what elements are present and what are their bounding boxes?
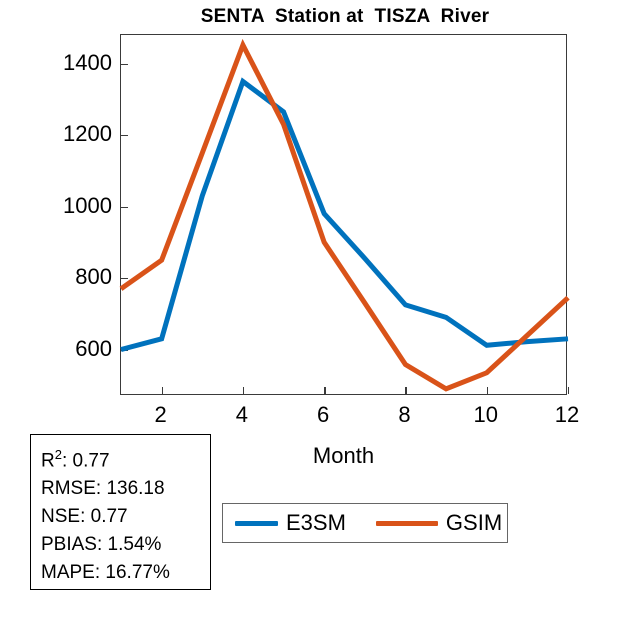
chart-title: SENTA Station at TISZA River — [120, 6, 570, 28]
legend-item-gsim[interactable]: GSIM — [376, 512, 502, 534]
y-tick-label-800: 800 — [22, 266, 112, 288]
line-e3sm — [121, 81, 568, 349]
x-tick-label-4: 4 — [212, 404, 272, 426]
x-tick-label-8: 8 — [374, 404, 434, 426]
stat-r2-exponent: 2 — [55, 447, 62, 462]
plot-area — [120, 34, 567, 395]
chart-canvas: SENTA Station at TISZA River Discharge (… — [0, 0, 625, 625]
stat-rmse: RMSE: 136.18 — [41, 475, 210, 503]
statistics-box: R2: 0.77 RMSE: 136.18 NSE: 0.77 PBIAS: 1… — [30, 434, 211, 590]
legend-label-gsim: GSIM — [446, 512, 502, 534]
legend-swatch-gsim — [376, 521, 438, 526]
y-tick-label-1400: 1400 — [22, 52, 112, 74]
y-tick-label-1000: 1000 — [22, 195, 112, 217]
y-tick-label-1200: 1200 — [22, 123, 112, 145]
stat-r2-label: R — [41, 450, 55, 471]
y-tick-label-600: 600 — [22, 338, 112, 360]
line-gsim — [121, 45, 568, 389]
legend-item-e3sm[interactable]: E3SM — [235, 512, 346, 534]
x-tick-label-12: 12 — [537, 404, 597, 426]
stat-r2-value: : 0.77 — [62, 450, 110, 471]
x-tick-label-10: 10 — [456, 404, 516, 426]
chart-legend[interactable]: E3SM GSIM — [222, 503, 508, 543]
x-tick-label-2: 2 — [131, 404, 191, 426]
legend-swatch-e3sm — [235, 521, 278, 526]
x-tick-label-6: 6 — [293, 404, 353, 426]
stat-pbias: PBIAS: 1.54% — [41, 531, 210, 559]
stat-mape: MAPE: 16.77% — [41, 559, 210, 587]
stat-nse: NSE: 0.77 — [41, 503, 210, 531]
legend-label-e3sm: E3SM — [286, 512, 346, 534]
x-tick-12 — [568, 387, 569, 394]
stat-r2: R2: 0.77 — [41, 441, 210, 475]
series-lines — [121, 35, 568, 396]
